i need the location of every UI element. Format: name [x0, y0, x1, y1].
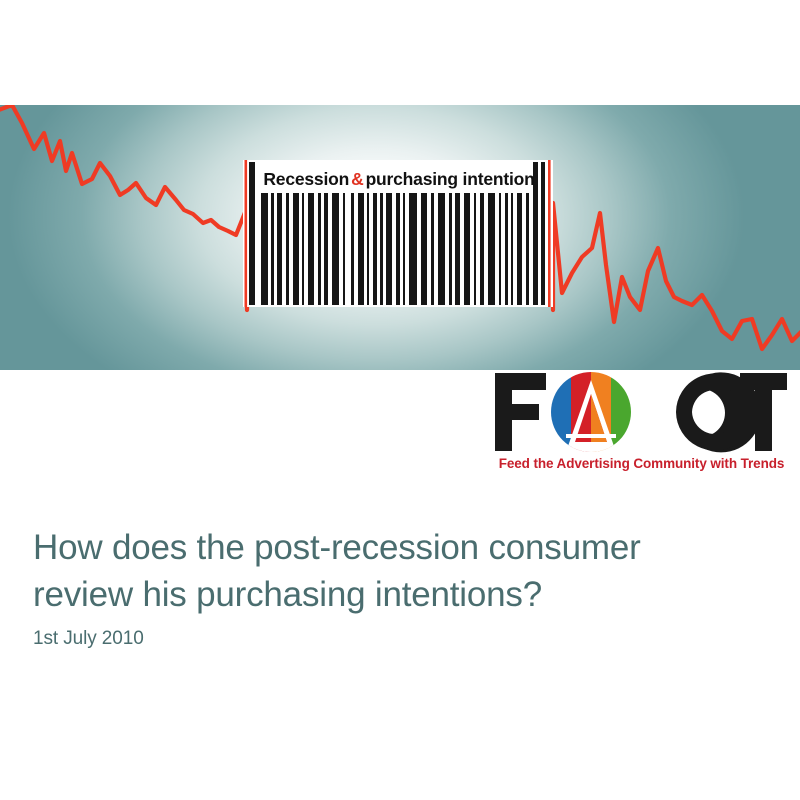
logo-tagline: Feed the Advertising Community with Tren… — [493, 456, 790, 471]
page-title-line-2: review his purchasing intentions? — [33, 571, 763, 618]
barcode-red-guard-left — [245, 160, 248, 307]
barcode-label-after: purchasing intention — [366, 169, 535, 190]
trend-line-right — [553, 203, 800, 349]
barcode-label-before: Recession — [263, 169, 349, 190]
logo-letter-a — [551, 372, 631, 452]
presentation-date: 1st July 2010 — [33, 628, 144, 650]
hero-banner: Recession & purchasing intention — [0, 105, 800, 370]
fact-wordmark — [490, 368, 790, 456]
page-title: How does the post-recession consumer rev… — [33, 524, 763, 618]
logo-letter-f — [495, 373, 546, 451]
barcode-red-guard-right — [548, 160, 551, 307]
barcode-label-ampersand: & — [349, 169, 365, 190]
page-title-line-1: How does the post-recession consumer — [33, 524, 763, 571]
fact-logo: Feed the Advertising Community with Tren… — [490, 368, 790, 480]
barcode-label: Recession & purchasing intention — [261, 166, 537, 192]
barcode-graphic: Recession & purchasing intention — [243, 160, 553, 307]
trend-line-left — [0, 105, 251, 235]
